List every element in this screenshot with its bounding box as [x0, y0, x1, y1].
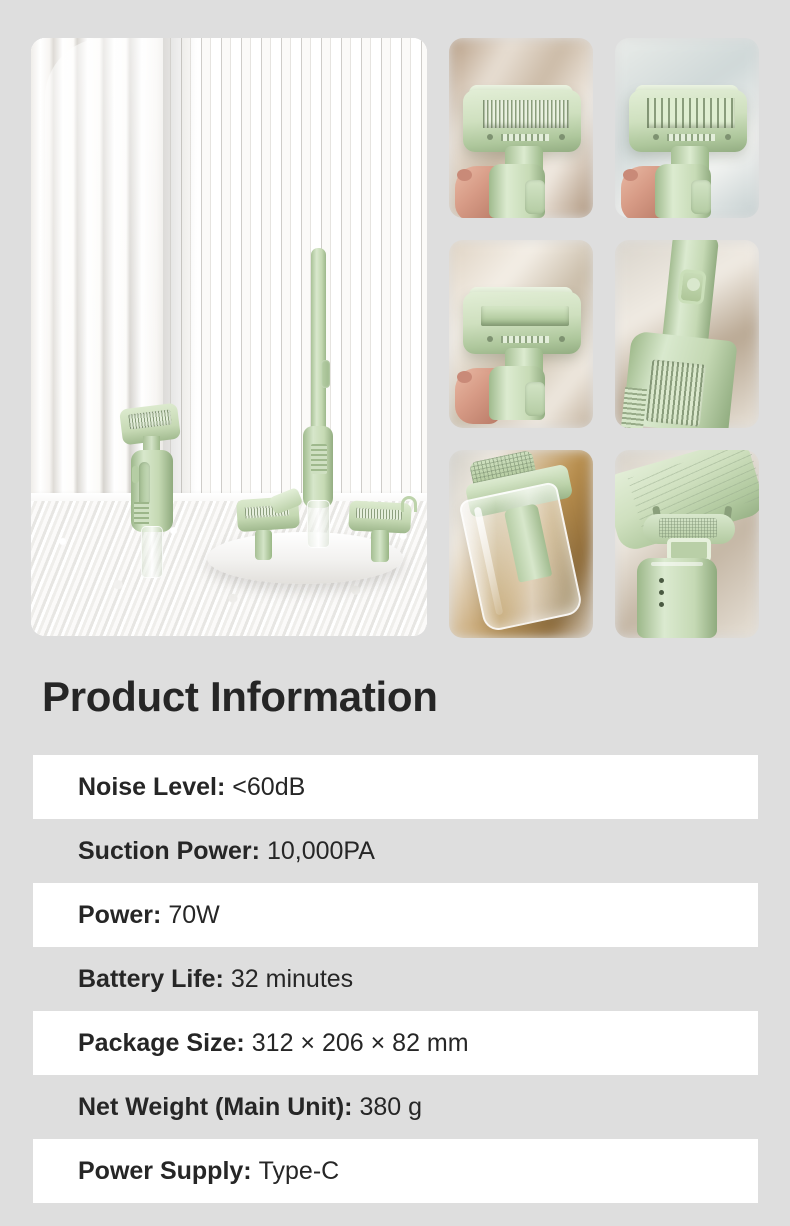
spec-value: 312 × 206 × 82 mm [252, 1029, 469, 1058]
spec-label: Suction Power: [78, 837, 260, 866]
spec-label: Battery Life: [78, 965, 224, 994]
handle-body [637, 558, 717, 638]
pivot-screw [559, 336, 565, 342]
body-seam [651, 562, 703, 566]
comb-teeth-icon [483, 100, 569, 128]
spec-row-package-size: Package Size: 312 × 206 × 82 mm [33, 1011, 758, 1075]
pivot-screw [487, 336, 493, 342]
stick-vacuum-unit [303, 248, 333, 548]
led-dot [659, 602, 664, 607]
power-trigger [525, 180, 545, 214]
product-image-gallery [31, 38, 759, 636]
led-dot [659, 578, 664, 583]
spec-row-battery-life: Battery Life: 32 minutes [33, 947, 758, 1011]
thumbnail-4-body-and-clip[interactable] [615, 240, 759, 428]
power-trigger [691, 180, 711, 214]
air-slots [501, 134, 549, 141]
pivot-screw [487, 134, 493, 140]
pivot-screw [725, 134, 731, 140]
battery-indicator-leds [659, 578, 664, 607]
thumbnail-6-swivel-joint[interactable] [615, 450, 759, 638]
vent-grille-icon [646, 359, 706, 426]
spec-value: 380 g [360, 1093, 423, 1122]
spec-row-power: Power: 70W [33, 883, 758, 947]
thumb-nail [457, 371, 472, 383]
spec-value: 70W [168, 901, 219, 930]
comb-teeth-icon [647, 98, 735, 128]
power-trigger [525, 382, 545, 416]
thumb-nail [457, 169, 472, 181]
hero-product-image[interactable] [31, 38, 427, 636]
spec-label: Package Size: [78, 1029, 245, 1058]
spec-label: Net Weight (Main Unit): [78, 1093, 353, 1122]
thumbnail-1-fine-comb-head[interactable] [449, 38, 593, 218]
pivot-screw [653, 134, 659, 140]
grooming-attachment-two [349, 494, 421, 566]
air-slots [501, 336, 549, 343]
spec-value: <60dB [232, 773, 305, 802]
thumbnail-5-dust-cup[interactable] [449, 450, 593, 638]
vent-grille-secondary [621, 387, 647, 428]
thumbnail-2-wide-comb-head[interactable] [615, 38, 759, 218]
spec-value: 10,000PA [267, 837, 375, 866]
spec-value: Type-C [259, 1157, 340, 1186]
spec-label: Power Supply: [78, 1157, 252, 1186]
spec-row-suction-power: Suction Power: 10,000PA [33, 819, 758, 883]
grooming-attachment-one [237, 492, 307, 564]
thumbnail-grid [449, 38, 759, 636]
flat-nozzle-blade [481, 306, 569, 326]
spec-row-net-weight: Net Weight (Main Unit): 380 g [33, 1075, 758, 1139]
thumb-nail [623, 169, 638, 181]
page-title: Product Information [42, 676, 438, 718]
air-slots [667, 134, 715, 141]
pivot-screw [559, 134, 565, 140]
thumbnail-3-flat-nozzle[interactable] [449, 240, 593, 428]
handheld-vacuum-unit [119, 406, 185, 581]
spec-label: Power: [78, 901, 161, 930]
spec-value: 32 minutes [231, 965, 353, 994]
led-dot [659, 590, 664, 595]
spec-row-power-supply: Power Supply: Type-C [33, 1139, 758, 1203]
spec-label: Noise Level: [78, 773, 225, 802]
joint-texture [659, 518, 717, 538]
product-spec-list: Noise Level: <60dB Suction Power: 10,000… [33, 755, 758, 1203]
spec-row-noise-level: Noise Level: <60dB [33, 755, 758, 819]
